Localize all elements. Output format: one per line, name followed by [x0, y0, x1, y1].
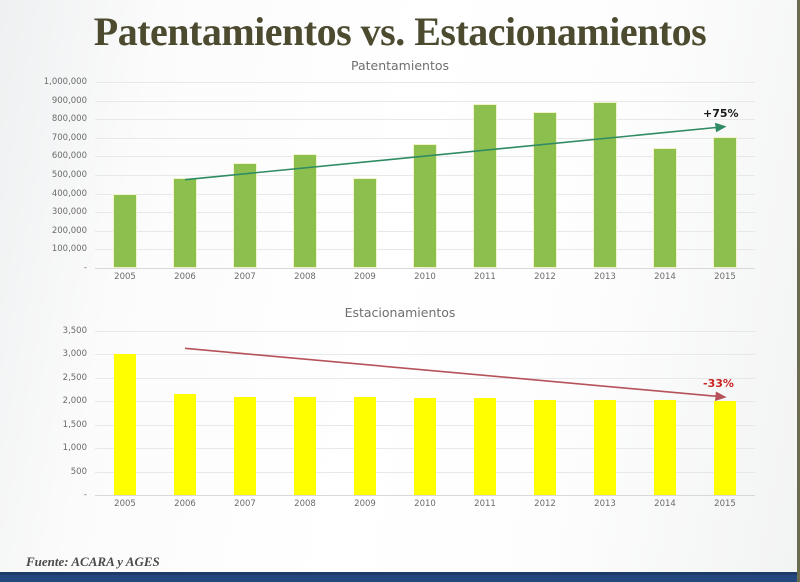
y-axis-label: 3,500 [63, 326, 87, 336]
bar [533, 112, 557, 268]
plot-area-patentamientos [95, 82, 755, 268]
x-axis-label: 2006 [174, 272, 196, 282]
y-axis-label: 800,000 [52, 114, 87, 124]
gridline [95, 101, 755, 102]
bar [474, 398, 496, 495]
bar [594, 400, 616, 495]
source-note: Fuente: ACARA y AGES [26, 554, 160, 570]
y-axis-label: 500 [71, 467, 87, 477]
y-axis-label: 3,000 [63, 349, 87, 359]
gridline [95, 268, 755, 269]
x-axis-label: 2015 [714, 272, 736, 282]
x-axis-label: 2012 [534, 499, 556, 509]
bar [593, 102, 617, 268]
x-axis-label: 2006 [174, 499, 196, 509]
bar [414, 398, 436, 495]
gridline [95, 331, 755, 332]
bar [713, 137, 737, 268]
y-axis-label: 100,000 [52, 244, 87, 254]
x-axis-label: 2013 [594, 499, 616, 509]
bar [534, 400, 556, 495]
bar [294, 397, 316, 495]
bar [413, 144, 437, 268]
bar [653, 148, 677, 268]
page-title: Patentamientos vs. Estacionamientos [0, 8, 800, 55]
y-axis-label: 2,500 [63, 373, 87, 383]
x-axis-label: 2007 [234, 272, 256, 282]
x-axis-label: 2012 [534, 272, 556, 282]
y-axis-label: 700,000 [52, 133, 87, 143]
chart-title-estacionamientos: Estacionamientos [0, 305, 800, 320]
x-axis-label: 2014 [654, 272, 676, 282]
plot-area-estacionamientos [95, 331, 755, 495]
bar [353, 178, 377, 268]
gridline [95, 82, 755, 83]
y-axis-label: 2,000 [63, 396, 87, 406]
x-axis-label: 2013 [594, 272, 616, 282]
bar [113, 194, 137, 268]
bar [714, 401, 736, 495]
bar [174, 394, 196, 495]
chart-estacionamientos: Estacionamientos -5001,0001,5002,0002,50… [0, 305, 800, 520]
bottom-accent-bar [0, 572, 797, 582]
y-axis-label: - [84, 263, 87, 273]
y-axis-label: 1,000 [63, 443, 87, 453]
y-axis-label: 1,000,000 [44, 77, 87, 87]
y-axis-label: 200,000 [52, 226, 87, 236]
x-axis-label: 2014 [654, 499, 676, 509]
gridline [95, 119, 755, 120]
x-axis-label: 2011 [474, 499, 496, 509]
y-axis-label: 500,000 [52, 170, 87, 180]
gridline [95, 138, 755, 139]
y-axis-label: 900,000 [52, 96, 87, 106]
x-axis-label: 2005 [114, 499, 136, 509]
y-axis-label: 400,000 [52, 189, 87, 199]
bar [654, 400, 676, 495]
y-axis-label: - [84, 490, 87, 500]
y-axis-label: 1,500 [63, 420, 87, 430]
gridline [95, 495, 755, 496]
x-axis-label: 2008 [294, 272, 316, 282]
y-axis-label: 300,000 [52, 207, 87, 217]
trend-badge: +75% [703, 107, 739, 120]
x-axis-label: 2008 [294, 499, 316, 509]
trend-badge: -33% [703, 377, 734, 390]
bar [234, 397, 256, 495]
bar [473, 104, 497, 268]
x-axis-label: 2010 [414, 272, 436, 282]
slide-canvas: Patentamientos vs. Estacionamientos Pate… [0, 0, 800, 582]
bar [114, 354, 136, 495]
chart-title-patentamientos: Patentamientos [0, 58, 800, 73]
x-axis-label: 2007 [234, 499, 256, 509]
x-axis-label: 2011 [474, 272, 496, 282]
bar [233, 163, 257, 268]
x-axis-label: 2015 [714, 499, 736, 509]
bar [293, 154, 317, 268]
x-axis-label: 2009 [354, 272, 376, 282]
y-axis-label: 600,000 [52, 151, 87, 161]
bar [354, 397, 376, 495]
bar [173, 178, 197, 268]
gridline [95, 378, 755, 379]
x-axis-label: 2009 [354, 499, 376, 509]
x-axis-label: 2005 [114, 272, 136, 282]
chart-patentamientos: Patentamientos -100,000200,000300,000400… [0, 58, 800, 288]
x-axis-label: 2010 [414, 499, 436, 509]
gridline [95, 354, 755, 355]
